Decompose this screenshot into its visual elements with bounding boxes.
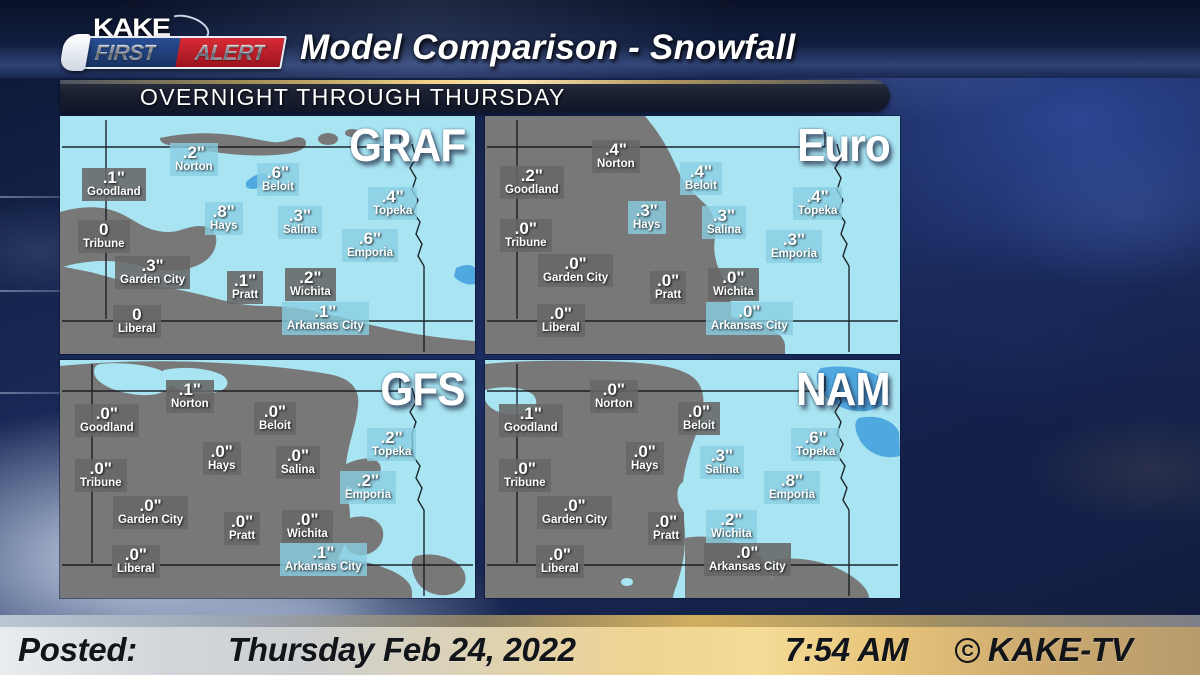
city-snowfall-value: .2" bbox=[521, 167, 543, 184]
city-name-label: Salina bbox=[283, 225, 317, 237]
city-chip-hays[interactable]: .0"Hays bbox=[203, 442, 241, 475]
subtitle-bar: OVERNIGHT THROUGH THURSDAY bbox=[60, 80, 890, 112]
city-snowfall-value: .0" bbox=[564, 255, 586, 272]
city-snowfall-value: .0" bbox=[296, 511, 318, 528]
city-snowfall-value: .0" bbox=[96, 405, 118, 422]
copyright-icon: C bbox=[955, 638, 980, 663]
city-name-label: Goodland bbox=[504, 423, 558, 435]
city-snowfall-value: .3" bbox=[636, 202, 658, 219]
city-snowfall-value: .6" bbox=[267, 164, 289, 181]
city-snowfall-value: .0" bbox=[514, 460, 536, 477]
city-name-label: Garden City bbox=[120, 275, 185, 287]
city-chip-salina[interactable]: .3"Salina bbox=[702, 206, 746, 239]
city-snowfall-value: .6" bbox=[359, 230, 381, 247]
city-snowfall-value: .0" bbox=[688, 403, 710, 420]
first-label: FIRST bbox=[95, 40, 158, 66]
city-chip-garden-city[interactable]: .0"Garden City bbox=[538, 254, 613, 287]
city-snowfall-value: .0" bbox=[139, 497, 161, 514]
city-snowfall-value: .0" bbox=[90, 460, 112, 477]
city-chip-liberal[interactable]: .0"Liberal bbox=[112, 545, 160, 578]
city-chip-liberal[interactable]: .0"Liberal bbox=[537, 304, 585, 337]
city-snowfall-value: .3" bbox=[141, 257, 163, 274]
city-snowfall-value: .0" bbox=[738, 303, 760, 320]
posted-time: 7:54 AM bbox=[785, 631, 908, 669]
city-name-label: Beloit bbox=[685, 181, 717, 193]
city-chip-beloit[interactable]: .6"Beloit bbox=[257, 163, 299, 196]
city-chip-goodland[interactable]: .2"Goodland bbox=[500, 166, 564, 199]
city-name-label: Emporia bbox=[345, 490, 391, 502]
city-snowfall-value: .0" bbox=[563, 497, 585, 514]
city-name-label: Beloit bbox=[683, 421, 715, 433]
city-name-label: Tribune bbox=[504, 478, 546, 490]
city-snowfall-value: .0" bbox=[736, 544, 758, 561]
city-snowfall-value: .1" bbox=[312, 544, 334, 561]
city-snowfall-value: 0 bbox=[99, 221, 108, 238]
city-name-label: Liberal bbox=[117, 564, 155, 576]
city-name-label: Arkansas City bbox=[285, 562, 362, 574]
city-name-label: Salina bbox=[705, 465, 739, 477]
city-snowfall-value: .2" bbox=[720, 511, 742, 528]
city-chip-tribune[interactable]: .0"Tribune bbox=[500, 219, 552, 252]
model-name-label: GRAF bbox=[349, 118, 465, 172]
footer-content: Posted: Thursday Feb 24, 2022 7:54 AM C … bbox=[0, 625, 1200, 675]
city-snowfall-value: .4" bbox=[807, 188, 829, 205]
city-chip-norton[interactable]: .1"Norton bbox=[166, 380, 214, 413]
city-name-label: Goodland bbox=[80, 423, 134, 435]
city-snowfall-value: 0 bbox=[132, 306, 141, 323]
city-name-label: Beloit bbox=[262, 182, 294, 194]
city-name-label: Norton bbox=[595, 399, 633, 411]
city-name-label: Tribune bbox=[83, 239, 125, 251]
city-snowfall-value: .0" bbox=[125, 546, 147, 563]
city-chip-wichita[interactable]: .0"Wichita bbox=[708, 268, 759, 301]
city-chip-arkansas-city[interactable]: .1"Arkansas City bbox=[282, 302, 369, 335]
city-chip-norton[interactable]: .4"Norton bbox=[592, 140, 640, 173]
city-name-label: Wichita bbox=[713, 287, 754, 299]
city-name-label: Topeka bbox=[798, 206, 837, 218]
city-name-label: Beloit bbox=[259, 421, 291, 433]
city-chip-emporia[interactable]: .2"Emporia bbox=[340, 471, 396, 504]
city-chip-beloit[interactable]: .0"Beloit bbox=[678, 402, 720, 435]
city-chip-pratt[interactable]: .0"Pratt bbox=[224, 512, 260, 545]
city-chip-hays[interactable]: .8"Hays bbox=[205, 202, 243, 235]
city-name-label: Goodland bbox=[87, 187, 141, 199]
city-snowfall-value: .0" bbox=[287, 447, 309, 464]
city-chip-tribune[interactable]: .0"Tribune bbox=[499, 459, 551, 492]
city-chip-arkansas-city[interactable]: .1"Arkansas City bbox=[280, 543, 367, 576]
city-snowfall-value: .4" bbox=[605, 141, 627, 158]
city-chip-garden-city[interactable]: .0"Garden City bbox=[537, 496, 612, 529]
city-name-label: Arkansas City bbox=[709, 562, 786, 574]
city-name-label: Liberal bbox=[542, 323, 580, 335]
city-snowfall-value: .3" bbox=[783, 231, 805, 248]
city-chip-hays[interactable]: .0"Hays bbox=[626, 442, 664, 475]
city-snowfall-value: .3" bbox=[711, 447, 733, 464]
alert-label: ALERT bbox=[194, 40, 266, 66]
city-chip-beloit[interactable]: .0"Beloit bbox=[254, 402, 296, 435]
city-chip-emporia[interactable]: .6"Emporia bbox=[342, 229, 398, 262]
city-name-label: Salina bbox=[707, 225, 741, 237]
city-name-label: Pratt bbox=[232, 290, 258, 302]
city-snowfall-value: .0" bbox=[603, 381, 625, 398]
alert-block: ALERT bbox=[175, 38, 284, 67]
city-snowfall-value: .8" bbox=[213, 203, 235, 220]
city-snowfall-value: .1" bbox=[103, 169, 125, 186]
city-snowfall-value: .1" bbox=[314, 303, 336, 320]
city-chip-pratt[interactable]: .0"Pratt bbox=[650, 271, 686, 304]
page-title: Model Comparison - Snowfall bbox=[300, 28, 795, 68]
footer-bar: Posted: Thursday Feb 24, 2022 7:54 AM C … bbox=[0, 615, 1200, 675]
city-name-label: Hays bbox=[633, 220, 661, 232]
city-name-label: Liberal bbox=[118, 324, 156, 336]
city-chip-topeka[interactable]: .6"Topeka bbox=[791, 428, 840, 461]
city-chip-wichita[interactable]: .0"Wichita bbox=[282, 510, 333, 543]
posted-date: Thursday Feb 24, 2022 bbox=[228, 631, 576, 669]
city-snowfall-value: .3" bbox=[713, 207, 735, 224]
city-chip-garden-city[interactable]: .3"Garden City bbox=[115, 256, 190, 289]
city-name-label: Pratt bbox=[653, 531, 679, 543]
city-chip-garden-city[interactable]: .0"Garden City bbox=[113, 496, 188, 529]
city-snowfall-value: .1" bbox=[520, 405, 542, 422]
city-name-label: Arkansas City bbox=[287, 321, 364, 333]
city-chip-topeka[interactable]: .2"Topeka bbox=[367, 428, 416, 461]
city-chip-arkansas-city[interactable]: .0"Arkansas City bbox=[704, 543, 791, 576]
model-name-label: NAM bbox=[796, 362, 890, 416]
city-name-label: Emporia bbox=[771, 249, 817, 261]
city-chip-hays[interactable]: .3"Hays bbox=[628, 201, 666, 234]
city-snowfall-value: .2" bbox=[381, 429, 403, 446]
city-name-label: Norton bbox=[171, 399, 209, 411]
city-snowfall-value: .0" bbox=[550, 305, 572, 322]
city-chip-emporia[interactable]: .3"Emporia bbox=[766, 230, 822, 263]
city-name-label: Hays bbox=[208, 461, 236, 473]
city-name-label: Emporia bbox=[347, 248, 393, 260]
city-snowfall-value: .0" bbox=[211, 443, 233, 460]
city-name-label: Garden City bbox=[542, 515, 607, 527]
city-snowfall-value: .0" bbox=[549, 546, 571, 563]
city-chip-liberal[interactable]: 0Liberal bbox=[113, 305, 161, 338]
city-chip-salina[interactable]: .3"Salina bbox=[700, 446, 744, 479]
city-name-label: Wichita bbox=[711, 529, 752, 541]
city-snowfall-value: .0" bbox=[655, 513, 677, 530]
city-name-label: Wichita bbox=[287, 529, 328, 541]
city-chip-liberal[interactable]: .0"Liberal bbox=[536, 545, 584, 578]
city-chip-goodland[interactable]: .1"Goodland bbox=[82, 168, 146, 201]
city-chip-topeka[interactable]: .4"Topeka bbox=[793, 187, 842, 220]
city-chip-tribune[interactable]: .0"Tribune bbox=[75, 459, 127, 492]
city-snowfall-value: .1" bbox=[179, 381, 201, 398]
city-snowfall-value: .0" bbox=[722, 269, 744, 286]
city-snowfall-value: .0" bbox=[231, 513, 253, 530]
city-name-label: Pratt bbox=[229, 531, 255, 543]
station-label: KAKE-TV bbox=[988, 631, 1133, 669]
city-name-label: Wichita bbox=[290, 287, 331, 299]
model-panel-grid: GRAF .1"Goodland.2"Norton.6"Beloit.4"Top… bbox=[60, 116, 905, 598]
city-snowfall-value: .0" bbox=[657, 272, 679, 289]
city-snowfall-value: .8" bbox=[781, 472, 803, 489]
city-snowfall-value: .4" bbox=[690, 163, 712, 180]
city-name-label: Tribune bbox=[80, 478, 122, 490]
first-alert-bar: FIRST ALERT bbox=[69, 36, 287, 69]
model-name-label: Euro bbox=[797, 118, 890, 172]
city-chip-arkansas-city[interactable]: .0"Arkansas City bbox=[706, 302, 793, 335]
city-chip-pratt[interactable]: .1"Pratt bbox=[227, 271, 263, 304]
city-chip-beloit[interactable]: .4"Beloit bbox=[680, 162, 722, 195]
city-name-label: Garden City bbox=[543, 273, 608, 285]
city-chip-norton[interactable]: .0"Norton bbox=[590, 380, 638, 413]
city-name-label: Goodland bbox=[505, 185, 559, 197]
city-name-label: Garden City bbox=[118, 515, 183, 527]
city-snowfall-value: .0" bbox=[634, 443, 656, 460]
city-chip-topeka[interactable]: .4"Topeka bbox=[368, 187, 417, 220]
city-chip-wichita[interactable]: .2"Wichita bbox=[285, 268, 336, 301]
city-chip-emporia[interactable]: .8"Emporia bbox=[764, 471, 820, 504]
city-name-label: Salina bbox=[281, 465, 315, 477]
city-chip-norton[interactable]: .2"Norton bbox=[170, 143, 218, 176]
city-name-label: Tribune bbox=[505, 238, 547, 250]
city-name-label: Topeka bbox=[796, 447, 835, 459]
model-name-label: GFS bbox=[381, 362, 465, 416]
weather-graphic: KAKE FIRST ALERT Model Comparison - Snow… bbox=[0, 0, 1200, 675]
city-snowfall-value: .2" bbox=[183, 144, 205, 161]
city-name-label: Topeka bbox=[373, 206, 412, 218]
city-chip-salina[interactable]: .0"Salina bbox=[276, 446, 320, 479]
city-name-label: Norton bbox=[597, 159, 635, 171]
city-snowfall-value: .3" bbox=[289, 207, 311, 224]
city-snowfall-value: .4" bbox=[382, 188, 404, 205]
city-snowfall-value: .2" bbox=[357, 472, 379, 489]
city-name-label: Hays bbox=[210, 221, 238, 233]
model-panel-euro[interactable]: Euro .2"Goodland.4"Norton.4"Beloit.4"Top… bbox=[485, 116, 900, 354]
city-snowfall-value: .2" bbox=[299, 269, 321, 286]
city-name-label: Arkansas City bbox=[711, 321, 788, 333]
city-chip-tribune[interactable]: 0Tribune bbox=[78, 220, 130, 253]
city-snowfall-value: .6" bbox=[805, 429, 827, 446]
city-name-label: Pratt bbox=[655, 290, 681, 302]
model-panel-gfs[interactable]: GFS .0"Goodland.1"Norton.0"Beloit.2"Tope… bbox=[60, 360, 475, 598]
city-chip-goodland[interactable]: .1"Goodland bbox=[499, 404, 563, 437]
model-panel-graf[interactable]: GRAF .1"Goodland.2"Norton.6"Beloit.4"Top… bbox=[60, 116, 475, 354]
posted-label: Posted: bbox=[18, 631, 137, 669]
city-chip-wichita[interactable]: .2"Wichita bbox=[706, 510, 757, 543]
city-snowfall-value: .0" bbox=[264, 403, 286, 420]
city-name-label: Norton bbox=[175, 162, 213, 174]
model-panel-nam[interactable]: NAM .1"Goodland.0"Norton.0"Beloit.6"Tope… bbox=[485, 360, 900, 598]
kake-first-alert-logo: KAKE FIRST ALERT bbox=[72, 14, 284, 72]
city-name-label: Topeka bbox=[372, 447, 411, 459]
city-snowfall-value: .0" bbox=[515, 220, 537, 237]
city-snowfall-value: .1" bbox=[234, 272, 256, 289]
city-name-label: Emporia bbox=[769, 490, 815, 502]
city-name-label: Liberal bbox=[541, 564, 579, 576]
subtitle-text: OVERNIGHT THROUGH THURSDAY bbox=[140, 84, 566, 111]
city-chip-goodland[interactable]: .0"Goodland bbox=[75, 404, 139, 437]
city-name-label: Hays bbox=[631, 461, 659, 473]
city-chip-salina[interactable]: .3"Salina bbox=[278, 206, 322, 239]
city-chip-pratt[interactable]: .0"Pratt bbox=[648, 512, 684, 545]
